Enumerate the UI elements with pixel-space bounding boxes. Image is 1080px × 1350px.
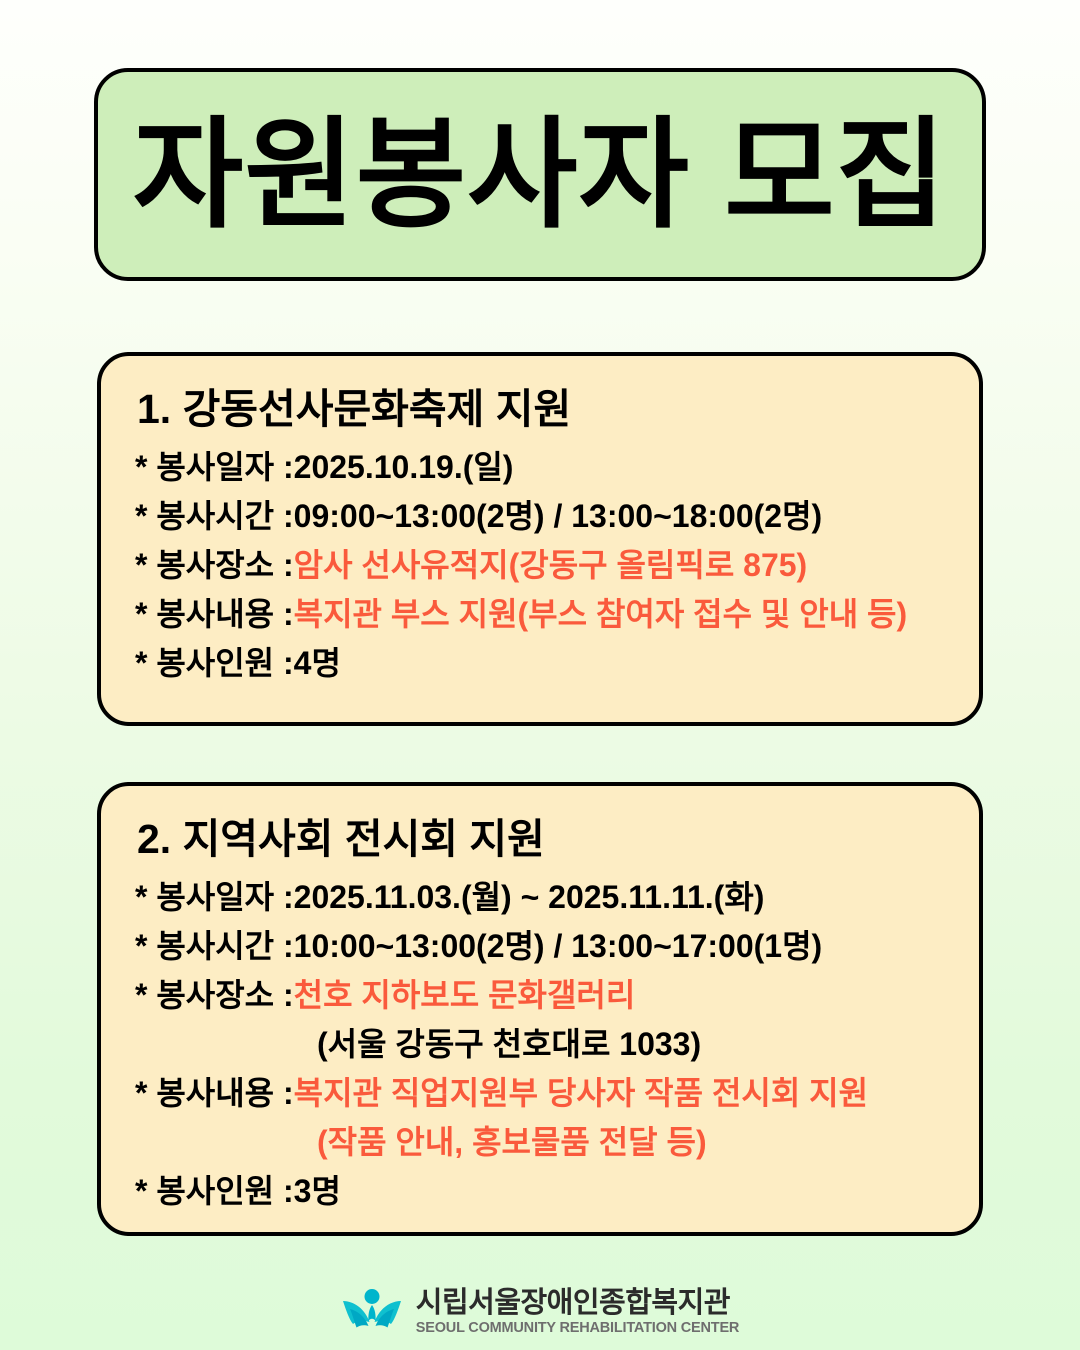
detail-label: * 봉사인원 : bbox=[135, 1175, 294, 1207]
poster-root: 자원봉사자 모집 1. 강동선사문화축제 지원 * 봉사일자 : 2025.10… bbox=[0, 0, 1080, 1350]
detail-row: * 봉사일자 : 2025.10.19.(일) bbox=[135, 451, 949, 483]
detail-value: 3명 bbox=[294, 1175, 341, 1207]
detail-row: * 봉사내용 : 복지관 직업지원부 당사자 작품 전시회 지원 bbox=[135, 1077, 949, 1109]
detail-label: * 봉사내용 : bbox=[135, 598, 294, 630]
page-title: 자원봉사자 모집 bbox=[133, 115, 947, 235]
detail-row: * 봉사내용 : 복지관 부스 지원(부스 참여자 접수 및 안내 등) bbox=[135, 598, 949, 630]
person-with-wings-logo-icon bbox=[341, 1288, 403, 1336]
detail-label: * 봉사장소 : bbox=[135, 979, 294, 1011]
detail-row: * 봉사장소 : 천호 지하보도 문화갤러리 bbox=[135, 979, 949, 1011]
detail-value: 천호 지하보도 문화갤러리 bbox=[294, 979, 636, 1011]
detail-value: 2025.10.19.(일) bbox=[294, 451, 514, 483]
detail-row: * 봉사인원 : 4명 bbox=[135, 647, 949, 679]
detail-value: 복지관 부스 지원(부스 참여자 접수 및 안내 등) bbox=[294, 598, 907, 630]
detail-row-continuation: (작품 안내, 홍보물품 전달 등) bbox=[135, 1126, 949, 1158]
detail-value: 암사 선사유적지(강동구 올림픽로 875) bbox=[294, 549, 808, 581]
detail-value: (작품 안내, 홍보물품 전달 등) bbox=[317, 1126, 707, 1158]
logo-text-block: 시립서울장애인종합복지관 SEOUL COMMUNITY REHABILITAT… bbox=[416, 1288, 739, 1336]
detail-label: * 봉사시간 : bbox=[135, 500, 294, 532]
detail-label: * 봉사시간 : bbox=[135, 930, 294, 962]
detail-row-continuation: (서울 강동구 천호대로 1033) bbox=[135, 1028, 949, 1060]
detail-value: 복지관 직업지원부 당사자 작품 전시회 지원 bbox=[294, 1077, 868, 1109]
section-card-2: 2. 지역사회 전시회 지원 * 봉사일자 : 2025.11.03.(월) ~… bbox=[97, 782, 983, 1236]
detail-value: (서울 강동구 천호대로 1033) bbox=[317, 1028, 701, 1060]
detail-row: * 봉사인원 : 3명 bbox=[135, 1175, 949, 1207]
detail-row: * 봉사시간 : 09:00~13:00(2명) / 13:00~18:00(2… bbox=[135, 500, 949, 532]
detail-row: * 봉사일자 : 2025.11.03.(월) ~ 2025.11.11.(화) bbox=[135, 881, 949, 913]
section-1-heading: 1. 강동선사문화축제 지원 bbox=[137, 386, 949, 433]
detail-value: 10:00~13:00(2명) / 13:00~17:00(1명) bbox=[294, 930, 823, 962]
detail-label: * 봉사일자 : bbox=[135, 451, 294, 483]
organization-name-ko: 시립서울장애인종합복지관 bbox=[416, 1288, 730, 1318]
detail-row: * 봉사시간 : 10:00~13:00(2명) / 13:00~17:00(1… bbox=[135, 930, 949, 962]
section-2-heading: 2. 지역사회 전시회 지원 bbox=[137, 816, 949, 863]
footer-logo-block: 시립서울장애인종합복지관 SEOUL COMMUNITY REHABILITAT… bbox=[0, 1288, 1080, 1336]
detail-value: 09:00~13:00(2명) / 13:00~18:00(2명) bbox=[294, 500, 823, 532]
detail-label: * 봉사일자 : bbox=[135, 881, 294, 913]
detail-label: * 봉사내용 : bbox=[135, 1077, 294, 1109]
section-card-1: 1. 강동선사문화축제 지원 * 봉사일자 : 2025.10.19.(일) *… bbox=[97, 352, 983, 726]
detail-label: * 봉사인원 : bbox=[135, 647, 294, 679]
detail-value: 2025.11.03.(월) ~ 2025.11.11.(화) bbox=[294, 881, 765, 913]
detail-row: * 봉사장소 : 암사 선사유적지(강동구 올림픽로 875) bbox=[135, 549, 949, 581]
organization-name-en: SEOUL COMMUNITY REHABILITATION CENTER bbox=[416, 1321, 739, 1336]
poster-title-banner: 자원봉사자 모집 bbox=[94, 68, 986, 281]
detail-label: * 봉사장소 : bbox=[135, 549, 294, 581]
detail-value: 4명 bbox=[294, 647, 341, 679]
